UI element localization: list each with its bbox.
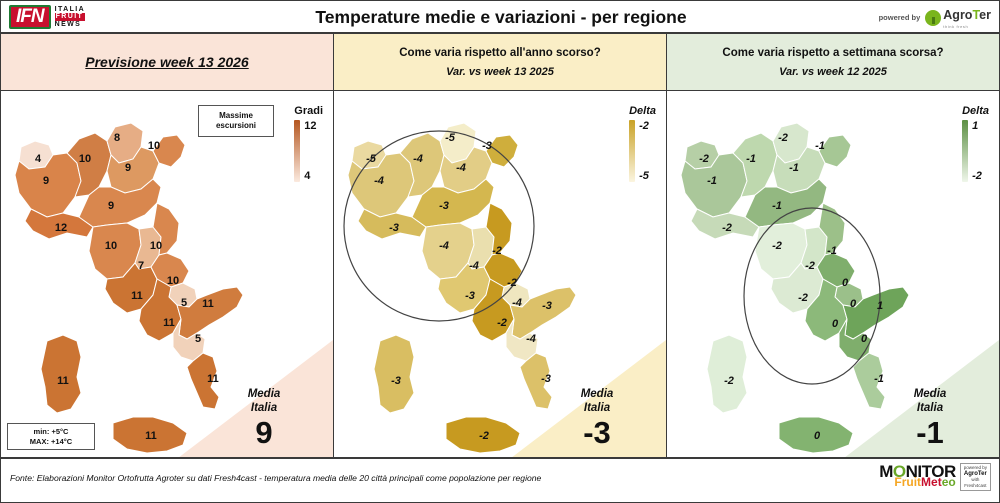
region-label-toscana: 10 bbox=[105, 240, 117, 252]
region-label-puglia: -3 bbox=[542, 300, 552, 312]
agroter-logo: AgroTer think fresh bbox=[925, 6, 991, 29]
region-label-veneto: -1 bbox=[789, 162, 799, 174]
panel-3-body: -2-1-2-1-2-1-1-1-2-2-1-200010-1-20 Delta… bbox=[667, 91, 999, 458]
region-label-sicilia: 11 bbox=[145, 430, 157, 442]
minmax-max: MAX: +14°C bbox=[10, 437, 92, 447]
esc-line-2: escursioni bbox=[202, 121, 270, 131]
region-label-liguria: 12 bbox=[55, 222, 67, 234]
region-label-emilia: -3 bbox=[439, 200, 449, 212]
region-label-umbria: -4 bbox=[469, 260, 479, 272]
region-label-emilia: 9 bbox=[108, 200, 114, 212]
region-label-lombardia: -1 bbox=[746, 153, 756, 165]
region-label-marche: 10 bbox=[150, 240, 162, 252]
panel-3-title: Come varia rispetto a settimana scorsa? … bbox=[667, 34, 999, 91]
panel-previsione: Previsione week 13 2026 4912108910910710… bbox=[0, 33, 334, 458]
region-label-trentino: -5 bbox=[445, 132, 456, 144]
legend-3-min: -2 bbox=[972, 170, 982, 182]
region-label-friuli: -1 bbox=[815, 140, 825, 152]
monitor-wordmark: MONITOR FruitMeteo bbox=[879, 465, 955, 489]
region-label-veneto: 9 bbox=[125, 162, 131, 174]
legend-1-max: 12 bbox=[304, 120, 316, 132]
legend-gradi: Gradi 12 4 bbox=[294, 105, 323, 182]
media-label-2b: Italia bbox=[542, 401, 652, 415]
region-label-campania: 11 bbox=[163, 317, 175, 329]
powered-by-label: powered by bbox=[879, 13, 921, 22]
legend-2-max: -2 bbox=[639, 120, 649, 132]
region-label-toscana: -4 bbox=[439, 240, 449, 252]
esc-line-1: Massime bbox=[202, 111, 270, 121]
region-label-lombardia: 10 bbox=[79, 153, 91, 165]
region-label-liguria: -3 bbox=[389, 222, 399, 234]
region-label-lazio: -2 bbox=[798, 292, 808, 304]
panel-1-body: 49121089109107101110511115111111 Massime… bbox=[1, 91, 333, 458]
media-italia-3: Media Italia -1 bbox=[875, 387, 985, 450]
legend-1-label: Gradi bbox=[294, 105, 323, 117]
panel-var-settimana: Come varia rispetto a settimana scorsa? … bbox=[666, 33, 1000, 458]
header-bar: IFN ITALIA FRUIT NEWS Temperature medie … bbox=[0, 0, 1000, 33]
panel-var-anno: Come varia rispetto all'anno scorso? Var… bbox=[333, 33, 667, 458]
media-label-1b: Italia bbox=[209, 401, 319, 415]
region-label-sardegna: 11 bbox=[57, 375, 69, 387]
region-label-sicilia: 0 bbox=[814, 430, 821, 442]
tree-icon bbox=[925, 10, 941, 26]
media-label-3b: Italia bbox=[875, 401, 985, 415]
media-label-2a: Media bbox=[542, 387, 652, 401]
panel-3-title-line1: Come varia rispetto a settimana scorsa? bbox=[722, 47, 943, 59]
region-label-valle-daosta: -5 bbox=[366, 153, 377, 165]
agroter-wordmark: AgroTer bbox=[943, 8, 991, 22]
region-label-piemonte: -1 bbox=[707, 175, 717, 187]
region-label-abruzzo: 10 bbox=[167, 275, 179, 287]
panel-1-title-line1: Previsione week 13 2026 bbox=[85, 54, 248, 70]
monitor-credit-4: Fresh4cast bbox=[964, 483, 987, 489]
panel-2-title: Come varia rispetto all'anno scorso? Var… bbox=[334, 34, 666, 91]
region-label-umbria: 7 bbox=[138, 260, 144, 272]
region-label-emilia: -1 bbox=[772, 200, 782, 212]
region-label-friuli: -3 bbox=[482, 140, 492, 152]
legend-delta-settimana: Delta 1 -2 bbox=[962, 105, 989, 182]
panel-3-title-line2: Var. vs week 12 2025 bbox=[779, 66, 887, 78]
region-label-piemonte: -4 bbox=[374, 175, 384, 187]
legend-3-gradient-bar bbox=[962, 120, 968, 182]
region-label-trentino: -2 bbox=[778, 132, 788, 144]
media-italia-2: Media Italia -3 bbox=[542, 387, 652, 450]
region-label-marche: -1 bbox=[827, 245, 837, 257]
media-label-1a: Media bbox=[209, 387, 319, 401]
footer-bar: Fonte: Elaborazioni Monitor Ortofrutta A… bbox=[0, 458, 1000, 503]
media-value-3: -1 bbox=[875, 416, 985, 450]
region-label-campania: -2 bbox=[497, 317, 507, 329]
source-note: Fonte: Elaborazioni Monitor Ortofrutta A… bbox=[10, 473, 541, 483]
region-label-marche: -2 bbox=[492, 245, 502, 257]
legend-1-min: 4 bbox=[304, 170, 316, 182]
region-label-molise: -4 bbox=[512, 297, 522, 309]
region-label-piemonte: 9 bbox=[43, 175, 49, 187]
region-label-lazio: -3 bbox=[465, 290, 475, 302]
panel-2-title-line2: Var. vs week 13 2025 bbox=[446, 66, 554, 78]
legend-2-gradient-bar bbox=[629, 120, 635, 182]
region-label-sardegna: -3 bbox=[391, 375, 401, 387]
region-label-valle-daosta: -2 bbox=[699, 153, 709, 165]
region-label-friuli: 10 bbox=[148, 140, 160, 152]
region-label-puglia: 1 bbox=[877, 300, 883, 312]
region-label-liguria: -2 bbox=[722, 222, 732, 234]
legend-2-label: Delta bbox=[629, 105, 656, 117]
region-label-toscana: -2 bbox=[772, 240, 782, 252]
media-italia-1: Media Italia 9 bbox=[209, 387, 319, 450]
legend-3-max: 1 bbox=[972, 120, 982, 132]
page-title: Temperature medie e variazioni - per reg… bbox=[1, 1, 1000, 34]
region-label-campania: 0 bbox=[832, 318, 839, 330]
monitor-credits-box: powered by AgroTer with Fresh4cast bbox=[960, 463, 991, 491]
legend-3-label: Delta bbox=[962, 105, 989, 117]
powered-by-block: powered by AgroTer think fresh bbox=[879, 6, 991, 29]
region-label-molise: 5 bbox=[181, 297, 187, 309]
massime-escursioni-box: Massime escursioni bbox=[198, 105, 274, 137]
region-label-valle-daosta: 4 bbox=[35, 153, 42, 165]
region-label-sardegna: -2 bbox=[724, 375, 734, 387]
region-label-veneto: -4 bbox=[456, 162, 466, 174]
legend-1-gradient-bar bbox=[294, 120, 300, 182]
minmax-min: min: +5°C bbox=[10, 427, 92, 437]
infographic-sheet: IFN ITALIA FRUIT NEWS Temperature medie … bbox=[0, 0, 1000, 503]
media-value-2: -3 bbox=[542, 416, 652, 450]
region-label-lazio: 11 bbox=[131, 290, 143, 302]
region-label-trentino: 8 bbox=[114, 132, 120, 144]
region-label-puglia: 11 bbox=[202, 298, 214, 310]
agroter-tagline: think fresh bbox=[943, 24, 991, 29]
panel-1-title: Previsione week 13 2026 bbox=[1, 34, 333, 91]
region-label-umbria: -2 bbox=[805, 260, 815, 272]
panel-2-body: -5-4-3-4-5-4-3-3-4-4-2-3-2-4-2-3-4-3-3-2… bbox=[334, 91, 666, 458]
minmax-callout: min: +5°C MAX: +14°C bbox=[7, 423, 95, 450]
legend-2-min: -5 bbox=[639, 170, 649, 182]
media-value-1: 9 bbox=[209, 416, 319, 450]
region-label-abruzzo: -2 bbox=[507, 277, 517, 289]
media-label-3a: Media bbox=[875, 387, 985, 401]
region-label-abruzzo: 0 bbox=[842, 277, 849, 289]
monitor-fruitmeteo-logo: MONITOR FruitMeteo powered by AgroTer wi… bbox=[879, 463, 991, 491]
region-label-lombardia: -4 bbox=[413, 153, 423, 165]
region-label-sicilia: -2 bbox=[479, 430, 489, 442]
legend-delta-anno: Delta -2 -5 bbox=[629, 105, 656, 182]
region-label-molise: 0 bbox=[850, 298, 857, 310]
panel-2-title-line1: Come varia rispetto all'anno scorso? bbox=[399, 47, 601, 59]
